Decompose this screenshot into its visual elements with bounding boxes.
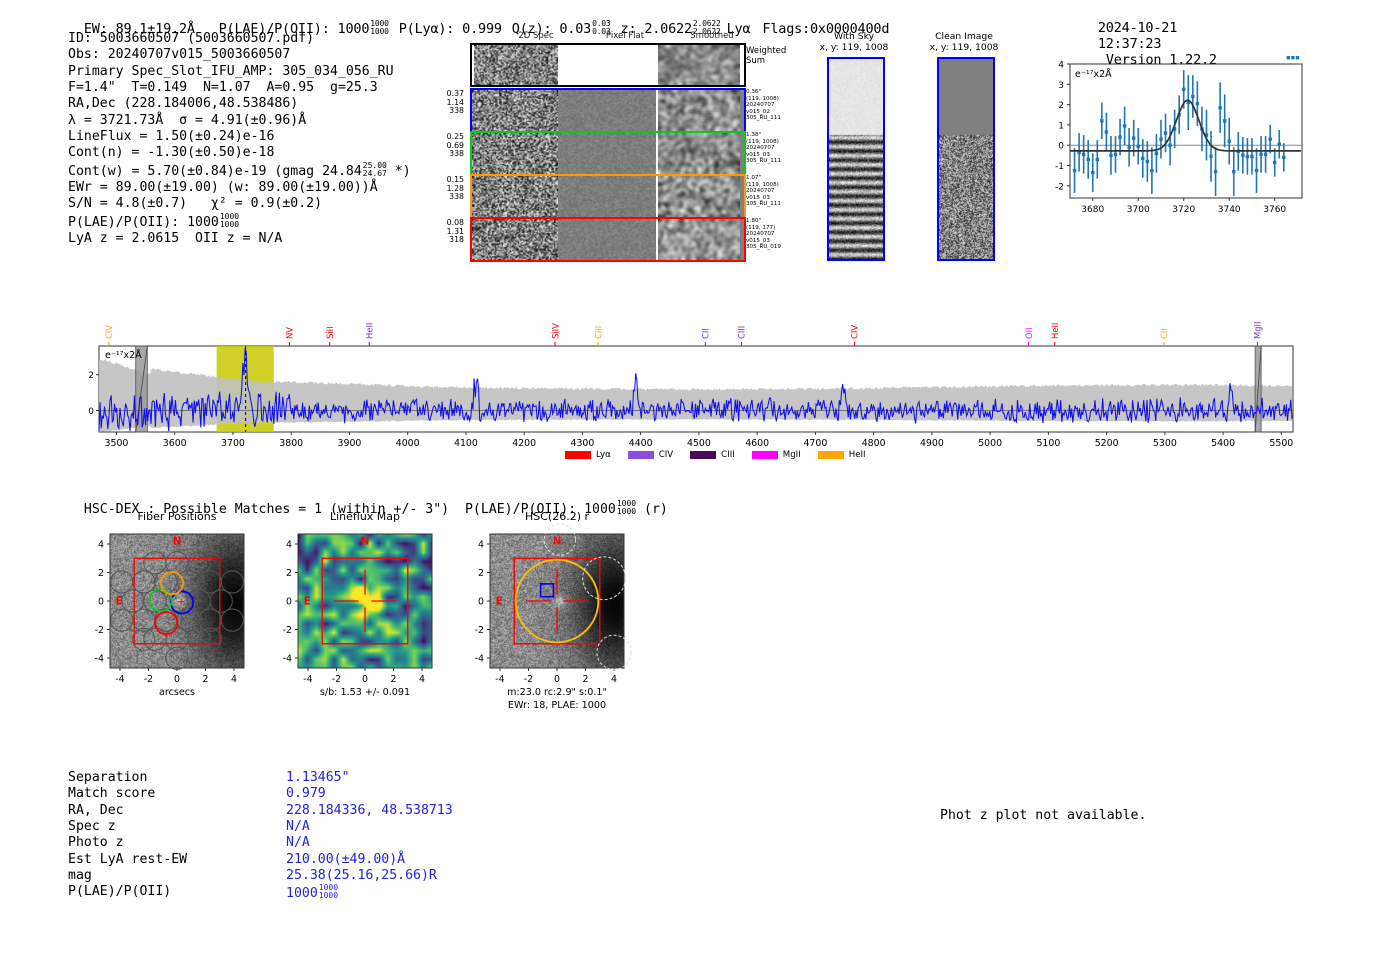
- svg-text:4: 4: [611, 674, 617, 685]
- svg-text:-2: -2: [144, 674, 153, 685]
- info-seeing: F=1.4" T=0.149 N=1.07 A=0.95 g=25.3: [68, 80, 411, 96]
- with-sky-image: [827, 57, 885, 261]
- svg-text:0: 0: [554, 674, 560, 685]
- svg-text:e⁻¹⁷x2Å: e⁻¹⁷x2Å: [105, 349, 142, 361]
- fiber-row-metadata: 0.36" (119, 1008) 20240707 v015_02 305_R…: [746, 89, 806, 122]
- info-id: ID: 5003660507 (5003660507.pdf): [68, 31, 411, 47]
- fiber-row: [470, 174, 746, 219]
- full-spectrum-plot: 0235003600370038003900400041004200430044…: [75, 318, 1297, 458]
- svg-text:3700: 3700: [221, 438, 245, 449]
- svg-text:2: 2: [583, 674, 589, 685]
- legend-item: MgII: [752, 450, 801, 460]
- detail-value: 100010001000: [286, 884, 338, 902]
- with-sky-title: With Skyx, y: 119, 1008: [806, 31, 902, 53]
- svg-text:1: 1: [1058, 121, 1064, 131]
- fiber-row-stats: 0.37 1.14 338: [406, 90, 464, 116]
- svg-text:N: N: [553, 536, 562, 548]
- svg-text:3800: 3800: [279, 438, 303, 449]
- info-primary-spec: Primary Spec_Slot_IFU_AMP: 305_034_056_R…: [68, 64, 411, 80]
- fiber-row: [470, 131, 746, 176]
- svg-text:5200: 5200: [1095, 438, 1119, 449]
- svg-text:3900: 3900: [338, 438, 362, 449]
- fiber-row-stats: 0.08 1.31 318: [406, 219, 464, 245]
- fiber-row-metadata: 1.80" (119, 177) 20240707 v015_03 305_RU…: [746, 218, 806, 251]
- legend-swatch: [565, 451, 591, 459]
- svg-text:4500: 4500: [687, 438, 711, 449]
- photz-unavailable-message: Phot z plot not available.: [940, 808, 1146, 823]
- cutout-panel-fiber-positions: Fiber Positions-4-4-2-2002244NE+arcsecs: [48, 508, 258, 748]
- legend-swatch: [818, 451, 844, 459]
- clean-image-image: [937, 57, 995, 261]
- info-lineflux: LineFlux = 1.50(±0.24)e-16: [68, 129, 411, 145]
- svg-text:-4: -4: [115, 674, 124, 685]
- svg-text:4200: 4200: [512, 438, 536, 449]
- fiber-row: [470, 217, 746, 262]
- clean-image-title: Clean Imagex, y: 119, 1008: [916, 31, 1012, 53]
- detail-key: Est LyA rest-EW: [68, 852, 187, 868]
- cutout-caption: m:23.0 rc:2.9" s:0.1": [446, 687, 668, 699]
- svg-text:3700: 3700: [1127, 205, 1150, 215]
- svg-text:5300: 5300: [1153, 438, 1177, 449]
- svg-text:N: N: [173, 536, 182, 548]
- cutout-row: Fiber Positions-4-4-2-2002244NE+arcsecsL…: [0, 508, 1400, 748]
- svg-text:4400: 4400: [629, 438, 653, 449]
- detail-key: P(LAE)/P(OII): [68, 884, 171, 900]
- svg-text:-4: -4: [475, 653, 484, 664]
- svg-text:SiII: SiII: [325, 326, 335, 339]
- svg-text:4900: 4900: [920, 438, 944, 449]
- svg-text:0: 0: [98, 596, 104, 607]
- info-obs: Obs: 20240707v015_5003660507: [68, 47, 411, 63]
- svg-text:4: 4: [1058, 61, 1064, 71]
- spectrum-legend: LyαCIVCIIIMgIIHeII: [565, 450, 883, 460]
- fiber-row: [470, 88, 746, 133]
- svg-text:2: 2: [1058, 101, 1064, 111]
- emission-line-fit-plot: -2-10123436803700372037403760e⁻¹⁷x2Å: [1036, 56, 1308, 228]
- svg-text:5000: 5000: [978, 438, 1002, 449]
- detail-key: Spec z: [68, 819, 116, 835]
- svg-text:3720: 3720: [1172, 205, 1195, 215]
- svg-text:4: 4: [286, 539, 292, 550]
- info-continuum-narrow: Cont(n) = -1.30(±0.50)e-18: [68, 145, 411, 161]
- svg-text:3680: 3680: [1081, 205, 1104, 215]
- svg-text:5400: 5400: [1211, 438, 1235, 449]
- svg-text:+: +: [176, 595, 185, 608]
- svg-text:2: 2: [478, 568, 484, 579]
- detail-value: 228.184336, 48.538713: [286, 803, 453, 819]
- detail-key: Photo z: [68, 835, 124, 851]
- legend-item: HeII: [818, 450, 866, 460]
- svg-text:0: 0: [1058, 142, 1064, 152]
- svg-text:-2: -2: [524, 674, 533, 685]
- svg-text:-4: -4: [283, 653, 292, 664]
- svg-text:MgII: MgII: [1253, 322, 1263, 339]
- svg-text:2: 2: [286, 568, 292, 579]
- svg-text:3500: 3500: [105, 438, 129, 449]
- legend-swatch: [752, 451, 778, 459]
- svg-text:-1: -1: [1055, 162, 1064, 172]
- legend-label: CIV: [659, 450, 673, 460]
- fiber-row-stats: 0.15 1.28 338: [406, 176, 464, 202]
- svg-text:SiIV: SiIV: [550, 323, 560, 339]
- svg-text:OII: OII: [1024, 327, 1034, 339]
- detail-value: N/A: [286, 835, 310, 851]
- svg-text:-2: -2: [332, 674, 341, 685]
- svg-text:CIII: CIII: [737, 326, 747, 339]
- cutout-panel-hsc-r: HSC(26.2) r-4-4-2-2002244NEm:23.0 rc:2.9…: [428, 508, 638, 748]
- detail-key: Separation: [68, 770, 147, 786]
- weighted-sum-label: Weighted Sum: [746, 47, 786, 66]
- svg-text:-4: -4: [303, 674, 312, 685]
- info-radec: RA,Dec (228.184006,48.538486): [68, 96, 411, 112]
- detail-plae-fraction: 10001000: [319, 884, 338, 900]
- two-d-spectra-panel: 2D Spec Pixel Flat Smoothed Weighted Sum…: [440, 31, 770, 261]
- detail-key: mag: [68, 868, 92, 884]
- legend-label: CIII: [721, 450, 735, 460]
- svg-text:2: 2: [88, 371, 94, 381]
- legend-swatch: [628, 451, 654, 459]
- detail-value: N/A: [286, 819, 310, 835]
- svg-text:0: 0: [174, 674, 180, 685]
- fiber-row-stats: 0.25 0.69 338: [406, 133, 464, 159]
- fiber-row-metadata: 1.38" (119, 1008) 20240707 v015_03 305_R…: [746, 132, 806, 165]
- detail-value: 210.00(±49.00)Å: [286, 852, 405, 868]
- legend-label: Lyα: [596, 450, 611, 460]
- svg-text:4800: 4800: [862, 438, 886, 449]
- svg-text:CIV: CIV: [104, 325, 114, 339]
- svg-text:3: 3: [1058, 81, 1064, 91]
- header-date: 2024-10-21: [1098, 20, 1177, 36]
- info-plae: P(LAE)/P(OII): 100010001000: [68, 213, 411, 231]
- svg-text:CIV: CIV: [850, 325, 860, 339]
- legend-swatch: [690, 451, 716, 459]
- svg-text:0: 0: [478, 596, 484, 607]
- weighted-sum-strip: [470, 43, 746, 87]
- svg-text:4700: 4700: [803, 438, 827, 449]
- svg-text:4100: 4100: [454, 438, 478, 449]
- detail-value: 25.38(25.16,25.66)R: [286, 868, 437, 884]
- svg-text:NV: NV: [285, 327, 295, 339]
- info-signal-noise: S/N = 4.8(±0.7) χ² = 0.9(±0.2): [68, 196, 411, 212]
- legend-item: Lyα: [565, 450, 611, 460]
- svg-text:2: 2: [203, 674, 209, 685]
- svg-text:E: E: [496, 596, 503, 608]
- svg-text:N: N: [361, 536, 370, 548]
- svg-text:-2: -2: [1055, 182, 1064, 192]
- svg-text:4000: 4000: [396, 438, 420, 449]
- svg-text:4: 4: [478, 539, 484, 550]
- svg-text:4600: 4600: [745, 438, 769, 449]
- svg-text:CIII: CIII: [593, 326, 603, 339]
- header-time: 12:37:23: [1098, 36, 1161, 52]
- svg-text:CII: CII: [701, 328, 711, 339]
- svg-text:5100: 5100: [1036, 438, 1060, 449]
- svg-text:-2: -2: [283, 625, 292, 636]
- info-gmag-fraction: 25.0024.67: [363, 162, 387, 178]
- legend-label: MgII: [783, 450, 801, 460]
- svg-text:0: 0: [286, 596, 292, 607]
- legend-item: CIII: [690, 450, 735, 460]
- svg-text:2: 2: [391, 674, 397, 685]
- svg-text:0: 0: [362, 674, 368, 685]
- svg-text:0: 0: [88, 407, 94, 417]
- detail-value: 1.13465": [286, 770, 350, 786]
- svg-text:-4: -4: [495, 674, 504, 685]
- source-info-block: ID: 5003660507 (5003660507.pdf) Obs: 202…: [68, 31, 411, 247]
- detail-key: RA, Dec: [68, 803, 124, 819]
- svg-text:E: E: [304, 596, 311, 608]
- detail-value: 0.979: [286, 786, 326, 802]
- svg-text:HeII: HeII: [1050, 323, 1060, 339]
- svg-text:e⁻¹⁷x2Å: e⁻¹⁷x2Å: [1075, 68, 1112, 80]
- svg-text:5500: 5500: [1269, 438, 1293, 449]
- svg-text:2: 2: [98, 568, 104, 579]
- info-plae-fraction: 10001000: [220, 213, 239, 229]
- svg-text:-4: -4: [95, 653, 104, 664]
- info-ewr: EWr = 89.00(±19.00) (w: 89.00(±19.00))Å: [68, 180, 411, 196]
- col-header-pixelflat: Pixel Flat: [585, 31, 665, 41]
- info-redshifts: LyA z = 2.0615 OII z = N/A: [68, 231, 411, 247]
- svg-text:4300: 4300: [570, 438, 594, 449]
- svg-text:3740: 3740: [1218, 205, 1241, 215]
- legend-label: HeII: [849, 450, 866, 460]
- fiber-row-metadata: 1.07" (119, 1008) 20240707 v015_03 305_R…: [746, 175, 806, 208]
- info-lambda-sigma: λ = 3721.73Å σ = 4.91(±0.96)Å: [68, 113, 411, 129]
- legend-item: CIV: [628, 450, 673, 460]
- match-details-table: Separation1.13465"Match score0.979RA, De…: [68, 770, 498, 910]
- detail-key: Match score: [68, 786, 155, 802]
- svg-text:3600: 3600: [163, 438, 187, 449]
- cutout-panel-lineflux-map: Lineflux Map-4-4-2-2002244NEs/b: 1.53 +/…: [236, 508, 446, 748]
- svg-text:CII: CII: [1159, 328, 1169, 339]
- svg-text:3760: 3760: [1263, 205, 1286, 215]
- info-continuum-wide: Cont(w) = 5.70(±0.84)e-19 (gmag 24.8425.…: [68, 162, 411, 180]
- col-header-2dspec: 2D Spec: [496, 31, 576, 41]
- cutout-caption-secondary: EWr: 18, PLAE: 1000: [446, 700, 668, 712]
- svg-text:HeII: HeII: [364, 323, 374, 339]
- svg-text:-2: -2: [95, 625, 104, 636]
- col-header-smoothed: Smoothed: [672, 31, 752, 41]
- svg-text:-2: -2: [475, 625, 484, 636]
- svg-text:4: 4: [98, 539, 104, 550]
- svg-text:4: 4: [419, 674, 425, 685]
